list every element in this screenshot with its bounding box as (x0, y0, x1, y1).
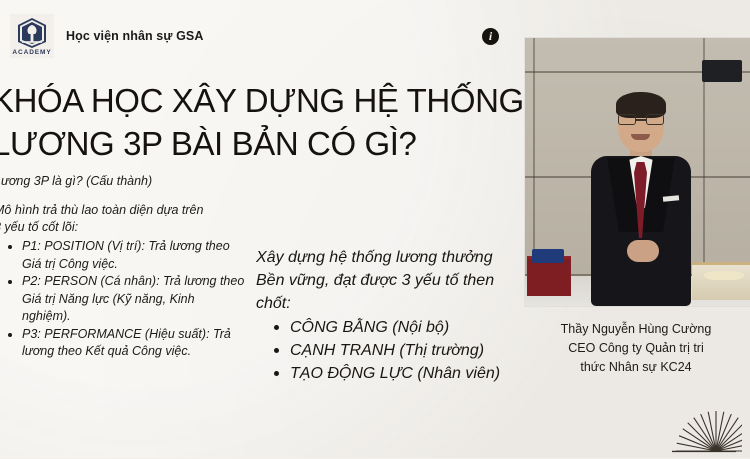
left-sub-line-1: Mô hình trả thù lao toàn diện dựa trên (0, 202, 246, 219)
speaker-figure (587, 90, 695, 306)
figure-hands (627, 240, 659, 262)
list-item: TẠO ĐỘNG LỰC (Nhân viên) (270, 362, 508, 385)
brand-title: Học viện nhân sự GSA (66, 29, 203, 43)
speaker-name: Thầy Nguyễn Hùng Cường (522, 320, 750, 339)
page-title-line-2: LƯƠNG 3P BÀI BẢN CÓ GÌ? (0, 122, 512, 165)
list-item: CÔNG BẰNG (Nội bộ) (270, 316, 508, 339)
right-bullet-list: CÔNG BẰNG (Nội bộ) CẠNH TRANH (Thị trườn… (256, 316, 508, 385)
list-item: P2: PERSON (Cá nhân): Trả lương theo Giá… (5, 273, 246, 326)
right-content-column: Xây dựng hệ thống lương thưởng Bền vững,… (256, 246, 508, 385)
logo-wordmark: ACADEMY (12, 49, 51, 57)
left-content-column: Lương 3P là gì? (Cấu thành) Mô hình trả … (0, 172, 246, 361)
glasses-icon (618, 114, 664, 125)
figure-smile (631, 134, 650, 140)
info-icon[interactable]: i (482, 28, 499, 45)
page-title: KHÓA HỌC XÂY DỰNG HỆ THỐNG LƯƠNG 3P BÀI … (0, 79, 512, 165)
speaker-photo (525, 38, 750, 306)
spacer (0, 190, 246, 202)
sunburst-fan-decoration (666, 410, 742, 454)
academy-crest-icon: ACADEMY (10, 14, 54, 58)
list-item: CẠNH TRANH (Thị trường) (270, 339, 508, 362)
list-item: P1: POSITION (Vị trí): Trả lương theo Gi… (5, 238, 246, 273)
right-lead-text: Xây dựng hệ thống lương thưởng Bền vững,… (256, 246, 508, 315)
header-brand-block: ACADEMY Học viện nhân sự GSA (10, 14, 203, 58)
photo-side-table (692, 262, 750, 300)
left-sub-line-2: 3 yếu tố cốt lõi: (0, 219, 246, 236)
list-item: P3: PERFORMANCE (Hiệu suất): Trả lương t… (5, 326, 246, 361)
photo-red-table (527, 256, 571, 296)
speaker-role-line-2: thức Nhân sự KC24 (522, 358, 750, 377)
wall-fixture (702, 60, 742, 82)
left-bullet-list: P1: POSITION (Vị trí): Trả lương theo Gi… (0, 238, 246, 361)
page-title-line-1: KHÓA HỌC XÂY DỰNG HỆ THỐNG (0, 82, 524, 119)
speaker-caption: Thầy Nguyễn Hùng Cường CEO Công ty Quản … (522, 320, 750, 377)
speaker-role-line-1: CEO Công ty Quản trị tri (522, 339, 750, 358)
left-lead-text: Lương 3P là gì? (Cấu thành) (0, 172, 246, 190)
